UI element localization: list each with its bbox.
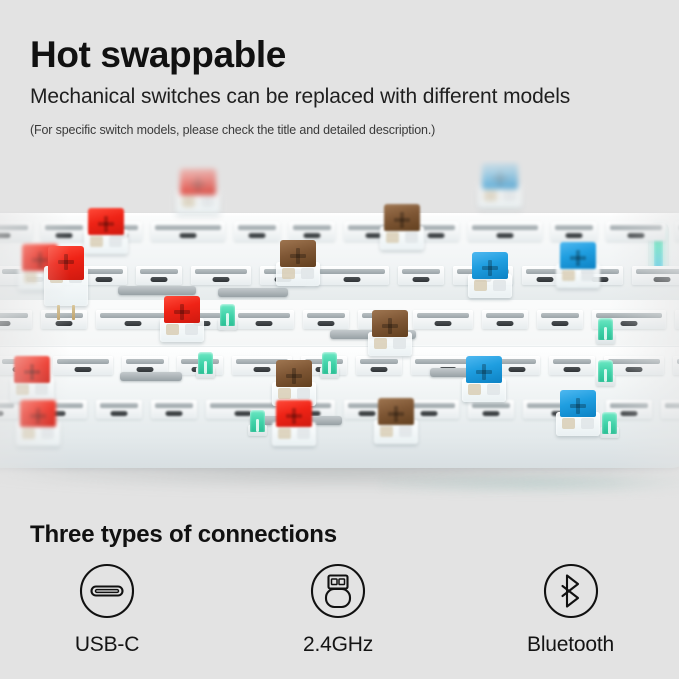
switch-cross-stem [30, 408, 46, 424]
page-title: Hot swappable [30, 36, 650, 73]
socket-bar [0, 313, 28, 318]
socket-pin-hole [621, 411, 638, 416]
socket-pin-hole [483, 411, 500, 416]
clip-prong [322, 352, 337, 374]
socket-bar [155, 225, 221, 230]
hotswap-socket [151, 222, 225, 241]
clip-prong [250, 410, 265, 432]
mechanical-switch-brown [368, 310, 412, 356]
socket-bar [100, 403, 138, 408]
switch-cross-stem [570, 250, 586, 266]
hotswap-retention-clip [196, 352, 215, 378]
keyboard-bezel-edge [0, 345, 679, 347]
hotswap-socket [661, 400, 679, 419]
switch-cross-stem [476, 364, 492, 380]
switch-top [14, 356, 50, 383]
socket-pin-hole [125, 321, 142, 326]
switch-cross-stem [394, 212, 410, 228]
mechanical-switch-blue [478, 162, 522, 208]
switch-cross-stem [570, 398, 586, 414]
hotswap-socket [41, 222, 87, 241]
switch-cross-stem [286, 368, 302, 384]
mechanical-switch-red [44, 246, 88, 320]
switch-top [276, 360, 312, 387]
socket-pin-hole [359, 411, 376, 416]
switch-top [384, 204, 420, 231]
switch-top [560, 390, 596, 417]
bluetooth-icon [542, 562, 600, 620]
socket-pin-hole [371, 367, 388, 372]
socket-pin-hole [0, 411, 4, 416]
socket-bar [553, 359, 591, 364]
socket-pin-hole [0, 233, 11, 238]
switch-cross-stem [482, 260, 498, 276]
socket-pin-hole [421, 411, 438, 416]
switch-top [164, 296, 200, 323]
switch-top [482, 162, 518, 189]
hotswap-socket [289, 222, 335, 241]
switch-top [88, 208, 124, 235]
mechanical-switch-blue [462, 356, 506, 402]
hotswap-socket [673, 356, 679, 375]
socket-pin-hole [304, 233, 321, 238]
hotswap-socket [0, 310, 32, 329]
connection-option-usb-c: USB-C [0, 562, 214, 657]
socket-pin-hole [0, 321, 11, 326]
usb-c-port-icon [78, 562, 136, 620]
socket-pin-hole [151, 277, 168, 282]
hotswap-socket [606, 222, 666, 241]
socket-bar [555, 225, 593, 230]
stabilizer-bar [120, 372, 182, 381]
socket-pin-hole [537, 277, 554, 282]
socket-bar [0, 403, 14, 408]
connection-label-24ghz: 2.4GHz [303, 633, 373, 657]
hotswap-socket [398, 266, 444, 285]
socket-pin-hole [344, 277, 361, 282]
socket-bar [195, 269, 247, 274]
socket-bar [472, 403, 510, 408]
hotswap-socket [191, 266, 251, 285]
switch-cross-stem [24, 364, 40, 380]
clip-prong [602, 412, 617, 434]
switch-top [378, 398, 414, 425]
hotswap-socket [136, 266, 182, 285]
switch-cross-stem [388, 406, 404, 422]
socket-pin-hole [435, 321, 452, 326]
mechanical-switch-red [16, 400, 60, 446]
socket-pin-hole [180, 233, 197, 238]
mechanical-switch-blue [556, 242, 600, 288]
hotswap-retention-clip [218, 304, 237, 330]
socket-bar [636, 269, 679, 274]
socket-pin-hole [654, 277, 671, 282]
socket-bar [610, 225, 662, 230]
socket-bar [402, 269, 440, 274]
socket-bar [155, 403, 193, 408]
switch-cross-stem [492, 170, 508, 186]
hotswap-socket [537, 310, 583, 329]
socket-pin-hole [96, 277, 113, 282]
socket-pin-hole [621, 321, 638, 326]
socket-pin-hole [628, 233, 645, 238]
hotswap-socket [675, 310, 679, 329]
socket-pin-hole [56, 233, 73, 238]
switch-top [20, 400, 56, 427]
hotswap-socket [549, 356, 595, 375]
usb-dongle-icon [309, 562, 367, 620]
socket-bar [360, 359, 398, 364]
socket-pin-hole [564, 367, 581, 372]
mechanical-switch-brown [380, 204, 424, 250]
switch-top [472, 252, 508, 279]
switch-top [466, 356, 502, 383]
hotswap-retention-clip [320, 352, 339, 378]
hotswap-socket [468, 222, 542, 241]
hotswap-socket [551, 222, 597, 241]
switch-cross-stem [382, 318, 398, 334]
socket-bar [45, 225, 83, 230]
socket-bar [238, 225, 276, 230]
socket-bar [85, 269, 123, 274]
connections-row: USB-C 2.4GHz Bluetooth [0, 562, 679, 657]
clip-prong [198, 352, 213, 374]
hotswap-socket [632, 266, 679, 285]
socket-bar [0, 225, 28, 230]
switch-top [48, 246, 84, 280]
switch-cross-stem [174, 304, 190, 320]
mechanical-switch-blue [556, 390, 600, 436]
header-text-block: Hot swappable Mechanical switches can be… [30, 36, 650, 137]
socket-pin-hole [497, 321, 514, 326]
connection-option-bluetooth: Bluetooth [462, 562, 679, 657]
product-photo [0, 160, 679, 510]
socket-bar [293, 225, 331, 230]
hotswap-retention-clip [248, 410, 267, 436]
mechanical-switch-brown [374, 398, 418, 444]
hotswap-socket [96, 310, 170, 329]
socket-bar [541, 313, 579, 318]
hotswap-socket [96, 400, 142, 419]
hotswap-socket [151, 400, 197, 419]
switch-top [180, 168, 216, 195]
mechanical-switch-red [272, 400, 316, 446]
hotswap-socket [356, 356, 402, 375]
hotswap-retention-clip [596, 360, 615, 386]
socket-pin-hole [166, 411, 183, 416]
connection-label-usb-c: USB-C [75, 633, 139, 657]
socket-pin-hole [497, 233, 514, 238]
photo-top-fade [0, 160, 679, 208]
switch-top [560, 242, 596, 269]
clip-prong [598, 360, 613, 382]
socket-pin-hole [254, 367, 271, 372]
socket-bar [486, 313, 524, 318]
switch-top [276, 400, 312, 427]
socket-bar [307, 313, 345, 318]
hotswap-socket [234, 222, 280, 241]
clip-prong [598, 318, 613, 340]
connection-label-bluetooth: Bluetooth [527, 633, 614, 657]
page-subtitle: Mechanical switches can be replaced with… [30, 85, 650, 109]
hotswap-socket [53, 356, 113, 375]
socket-pin-hole [75, 367, 92, 372]
socket-pin-hole [509, 367, 526, 372]
socket-pin-hole [213, 277, 230, 282]
switch-top [372, 310, 408, 337]
socket-bar [608, 359, 660, 364]
hotswap-socket [0, 222, 32, 241]
mechanical-switch-blue [468, 252, 512, 298]
socket-bar [319, 269, 385, 274]
socket-bar [140, 269, 178, 274]
socket-bar [238, 313, 290, 318]
hotswap-retention-clip [600, 412, 619, 438]
switch-cross-stem [98, 216, 114, 232]
socket-bar [126, 359, 164, 364]
connection-option-24ghz: 2.4GHz [214, 562, 462, 657]
socket-bar [210, 403, 276, 408]
mechanical-switch-red [176, 168, 220, 214]
socket-bar [57, 359, 109, 364]
hotswap-retention-clip [596, 318, 615, 344]
mechanical-switch-red [84, 208, 128, 254]
hotswap-socket [234, 310, 294, 329]
mechanical-switch-red [160, 296, 204, 342]
stabilizer-bar [218, 288, 288, 297]
hotswap-socket [482, 310, 528, 329]
hotswap-socket [315, 266, 389, 285]
switch-cross-stem [58, 254, 74, 270]
socket-pin-hole [111, 411, 128, 416]
socket-pin-hole [56, 321, 73, 326]
keyboard-drop-shadow-accent [380, 476, 679, 494]
switch-cross-stem [290, 248, 306, 264]
switch-cross-stem [190, 176, 206, 192]
hotswap-socket [675, 222, 679, 241]
socket-bar [100, 313, 166, 318]
hotswap-socket [413, 310, 473, 329]
clip-prong [220, 304, 235, 326]
socket-bar [665, 403, 679, 408]
socket-bar [610, 403, 648, 408]
disclaimer-note: (For specific switch models, please chec… [30, 123, 650, 137]
socket-bar [472, 225, 538, 230]
socket-pin-hole [566, 233, 583, 238]
mechanical-switch-brown [276, 240, 320, 286]
switch-top [280, 240, 316, 267]
socket-pin-hole [552, 321, 569, 326]
hotswap-socket [468, 400, 514, 419]
hotswap-socket [303, 310, 349, 329]
socket-pin-hole [428, 233, 445, 238]
connections-heading: Three types of connections [30, 521, 337, 549]
switch-cross-stem [286, 408, 302, 424]
product-feature-graphic: Hot swappable Mechanical switches can be… [0, 0, 679, 679]
socket-pin-hole [256, 321, 273, 326]
socket-pin-hole [249, 233, 266, 238]
mechanical-switch-red [10, 356, 54, 402]
switch-pins [44, 304, 88, 320]
socket-pin-hole [318, 321, 335, 326]
socket-pin-hole [413, 277, 430, 282]
socket-bar [417, 313, 469, 318]
socket-pin-hole [626, 367, 643, 372]
stabilizer-bar [118, 286, 196, 295]
